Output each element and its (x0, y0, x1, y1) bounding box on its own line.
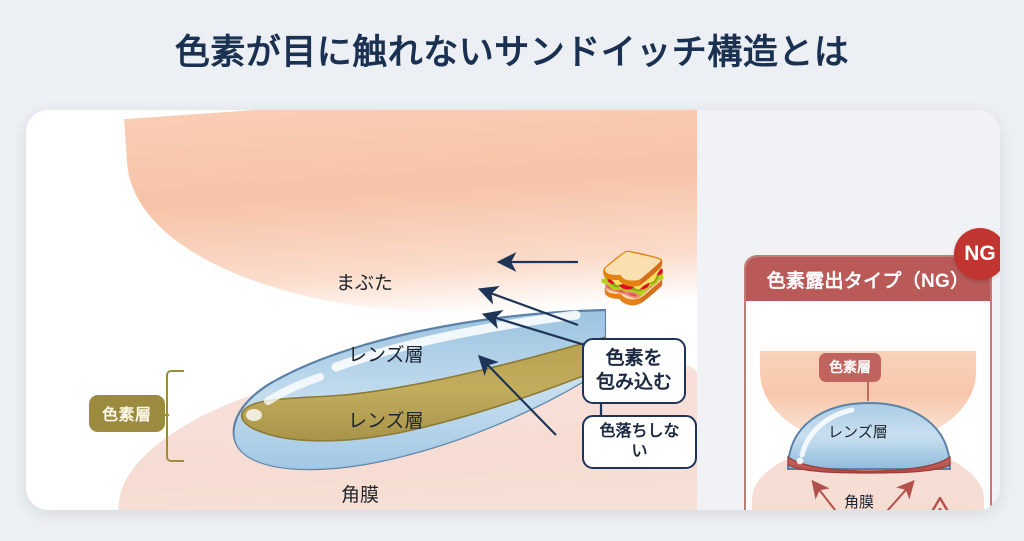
ng-type-panel: 色素露出タイプ（NG） (744, 255, 992, 510)
callout-line: 包み込む (596, 371, 672, 395)
sandwich-structure-panel: まぶた 角膜 (26, 110, 697, 510)
page-title: 色素が目に触れないサンドイッチ構造とは (0, 32, 1024, 74)
lens-layer-upper-label: レンズ層 (348, 340, 424, 367)
ng-pigment-badge-top: 色素層 (819, 353, 881, 382)
eyelid-label: まぶた (336, 268, 393, 295)
pigment-bracket (166, 370, 184, 462)
cornea-label: 角膜 (341, 480, 379, 507)
callout-line: 色落ちしない (593, 422, 686, 462)
pigment-layer-badge: 色素層 (89, 395, 165, 432)
sandwich-icon: 🥪 (598, 250, 668, 306)
callout-line: 色素を (596, 347, 672, 371)
ng-badge: NG (954, 228, 1000, 280)
diagram-card: まぶた 角膜 (26, 110, 1000, 510)
warning-triangle-icon (918, 494, 962, 510)
ng-lens-layer-label: レンズ層 (828, 421, 888, 442)
lens-illustration (176, 305, 606, 480)
ng-panel-header: 色素露出タイプ（NG） (746, 257, 990, 301)
lens-layer-lower-label: レンズ層 (348, 406, 424, 433)
callout-wrap: 色素を包み込む (582, 338, 686, 404)
callout-no-fade: 色落ちしない (582, 415, 697, 469)
ng-illustration: レンズ層 角膜 色素層 色素層 (746, 301, 990, 510)
ng-cornea-label: 角膜 (844, 491, 874, 510)
